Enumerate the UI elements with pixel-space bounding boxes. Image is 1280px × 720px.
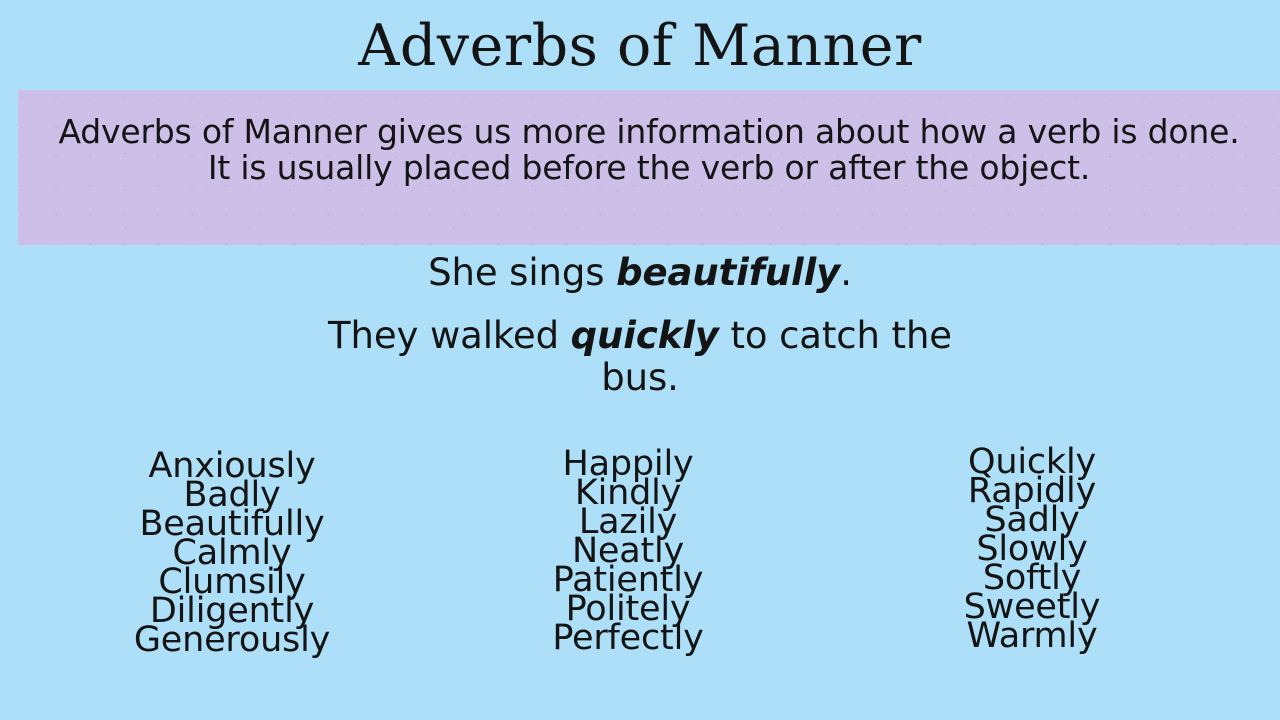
adverb-word: Warmly [882, 622, 1182, 651]
example-1-before: She sings [428, 251, 616, 294]
adverb-word-columns: Anxiously Badly Beautifully Calmly Clums… [0, 448, 1280, 678]
example-1-adverb: beautifully [616, 251, 840, 294]
title-bar: Adverbs of Manner [0, 6, 1280, 86]
adverb-column-3: Quickly Rapidly Sadly Slowly Softly Swee… [882, 448, 1182, 651]
definition-text: Adverbs of Manner gives us more informat… [54, 114, 1244, 185]
page-title: Adverbs of Manner [358, 18, 921, 75]
adverb-word: Generously [82, 626, 382, 655]
example-1-after: . [840, 251, 852, 294]
adverb-column-2: Happily Kindly Lazily Neatly Patiently P… [478, 450, 778, 653]
example-sentence-1: She sings beautifully. [0, 252, 1280, 293]
example-sentence-2: They walked quickly to catch the bus. [290, 315, 990, 398]
example-2-adverb: quickly [571, 314, 719, 357]
adverb-word: Perfectly [478, 624, 778, 653]
slide-canvas: Adverbs of Manner Adverbs of Manner give… [0, 0, 1280, 720]
example-2-before: They walked [328, 314, 571, 357]
adverb-column-1: Anxiously Badly Beautifully Calmly Clums… [82, 452, 382, 655]
example-sentences: She sings beautifully. They walked quick… [0, 252, 1280, 398]
definition-band: Adverbs of Manner gives us more informat… [18, 90, 1280, 245]
